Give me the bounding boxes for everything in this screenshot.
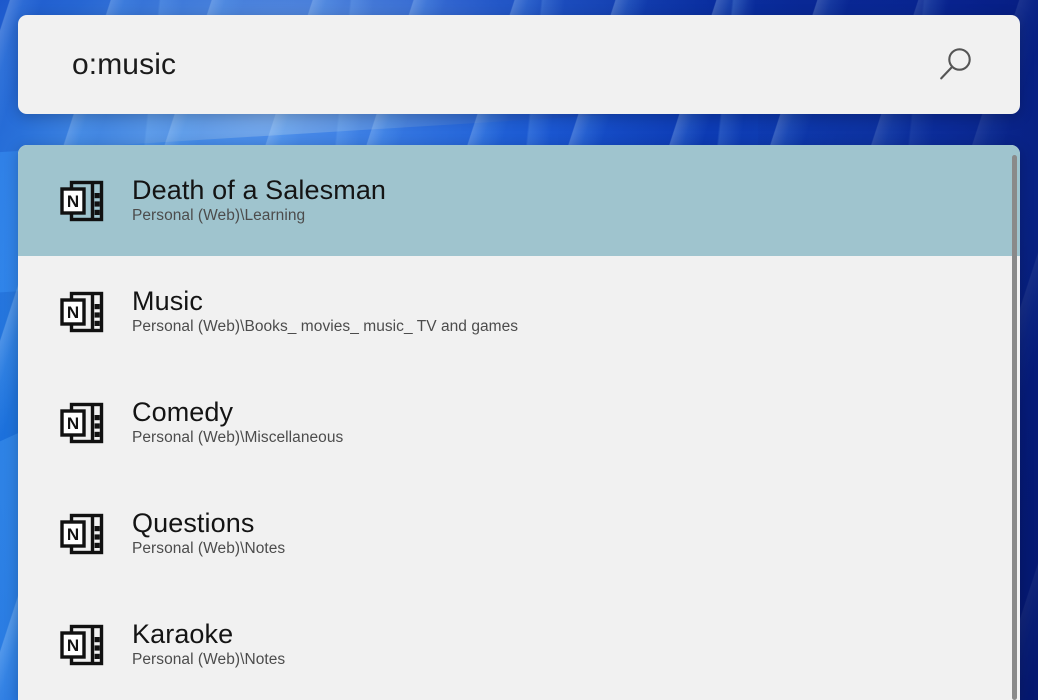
onenote-icon: N xyxy=(54,283,112,341)
result-text: Death of a SalesmanPersonal (Web)\Learni… xyxy=(132,175,386,226)
result-title: Comedy xyxy=(132,397,343,427)
search-results-panel: NDeath of a SalesmanPersonal (Web)\Learn… xyxy=(18,145,1020,700)
result-title: Music xyxy=(132,286,518,316)
search-input[interactable]: o:music xyxy=(72,50,932,80)
search-box[interactable]: o:music xyxy=(18,15,1020,114)
onenote-icon: N xyxy=(54,394,112,452)
result-text: ComedyPersonal (Web)\Miscellaneous xyxy=(132,397,343,448)
result-row[interactable]: NMusicPersonal (Web)\Books_ movies_ musi… xyxy=(18,256,1020,367)
onenote-icon: N xyxy=(54,505,112,563)
results-list: NDeath of a SalesmanPersonal (Web)\Learn… xyxy=(18,145,1020,700)
results-scrollbar[interactable] xyxy=(1012,155,1017,700)
svg-text:N: N xyxy=(67,414,79,433)
svg-text:N: N xyxy=(67,636,79,655)
result-text: MusicPersonal (Web)\Books_ movies_ music… xyxy=(132,286,518,337)
result-subtitle: Personal (Web)\Miscellaneous xyxy=(132,429,343,448)
result-row[interactable]: NComedyPersonal (Web)\Miscellaneous xyxy=(18,367,1020,478)
onenote-icon: N xyxy=(54,172,112,230)
result-subtitle: Personal (Web)\Notes xyxy=(132,540,285,559)
svg-text:N: N xyxy=(67,303,79,322)
svg-text:N: N xyxy=(67,192,79,211)
result-subtitle: Personal (Web)\Notes xyxy=(132,651,285,670)
result-row[interactable]: NKaraokePersonal (Web)\Notes xyxy=(18,589,1020,700)
results-scrollbar-thumb[interactable] xyxy=(1012,155,1017,700)
result-subtitle: Personal (Web)\Learning xyxy=(132,207,386,226)
result-subtitle: Personal (Web)\Books_ movies_ music_ TV … xyxy=(132,318,518,337)
result-row[interactable]: NQuestionsPersonal (Web)\Notes xyxy=(18,478,1020,589)
result-title: Karaoke xyxy=(132,619,285,649)
result-title: Death of a Salesman xyxy=(132,175,386,205)
onenote-icon: N xyxy=(54,616,112,674)
result-text: QuestionsPersonal (Web)\Notes xyxy=(132,508,285,559)
search-icon[interactable] xyxy=(932,42,978,88)
result-row[interactable]: NDeath of a SalesmanPersonal (Web)\Learn… xyxy=(18,145,1020,256)
result-text: KaraokePersonal (Web)\Notes xyxy=(132,619,285,670)
svg-text:N: N xyxy=(67,525,79,544)
result-title: Questions xyxy=(132,508,285,538)
desktop-wallpaper: o:music NDeath of a SalesmanPersonal (We… xyxy=(0,0,1038,700)
